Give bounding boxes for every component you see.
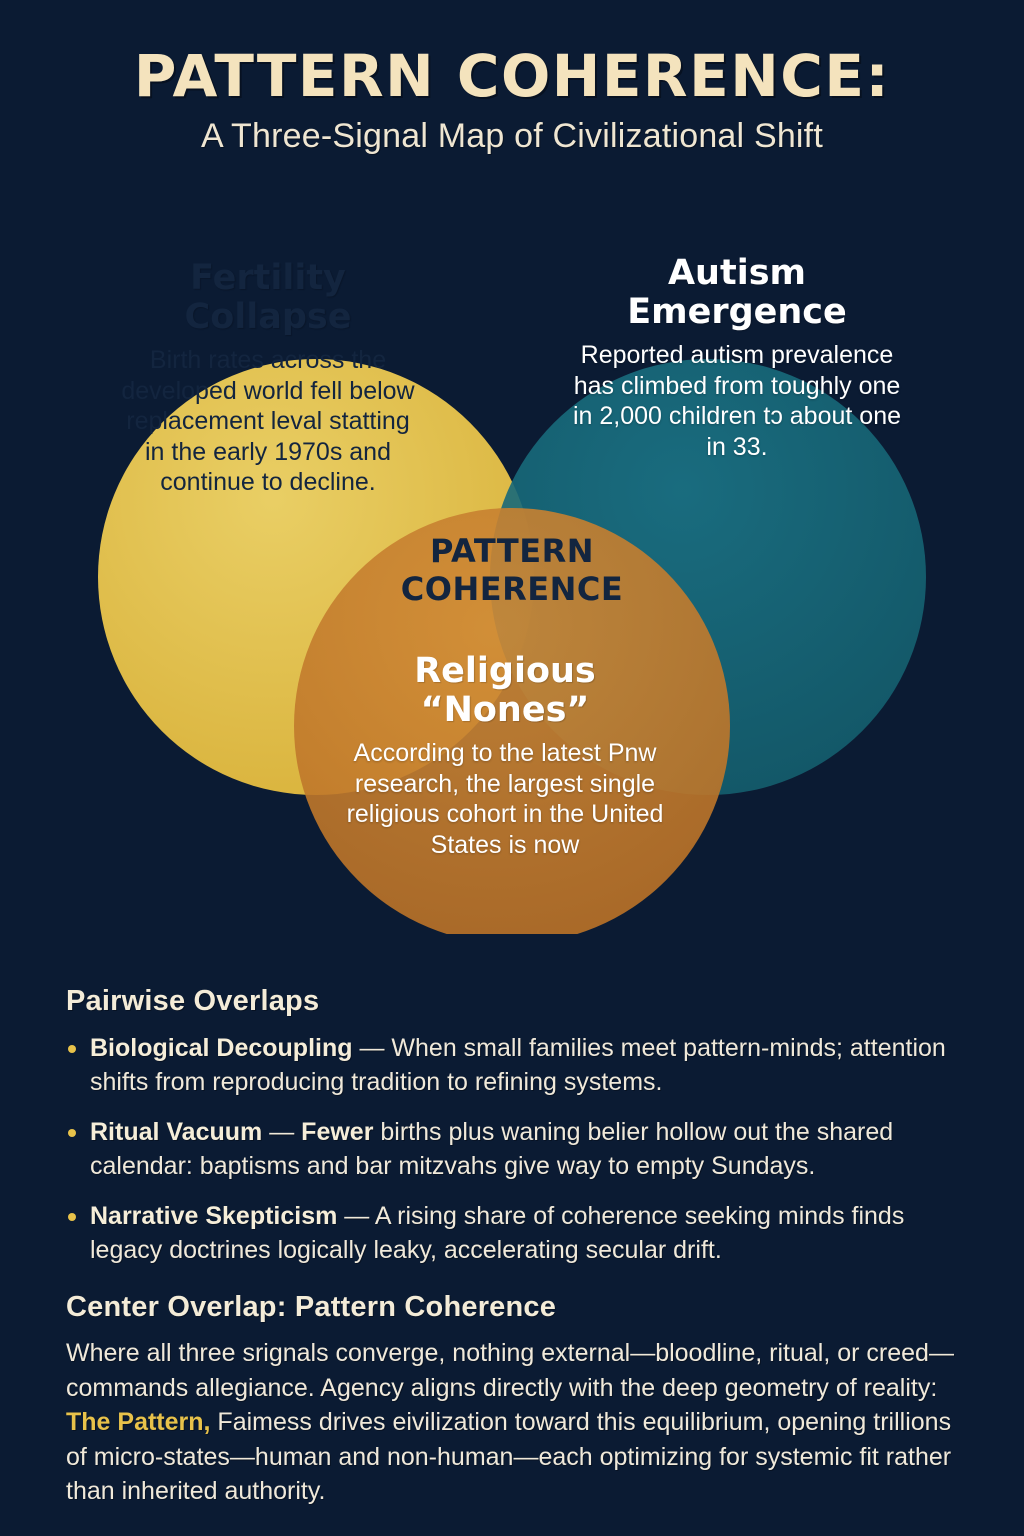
page-header: PATTERN COHERENCE: A Three-Signal Map of… xyxy=(0,0,1024,156)
bullet-dot-icon xyxy=(68,1129,76,1137)
bullet-dot-icon xyxy=(68,1213,76,1221)
overlap-term: Biological Decoupling xyxy=(90,1034,353,1062)
overlap-term: Narrative Skepticism xyxy=(90,1202,337,1230)
page-subtitle: A Three-Signal Map of Civilizational Shi… xyxy=(0,117,1024,156)
list-item: Narrative Skepticism — A rising share of… xyxy=(66,1200,972,1267)
venn-circle-religious xyxy=(294,508,730,934)
bullet-dot-icon xyxy=(68,1045,76,1053)
overlap-dash: — xyxy=(353,1034,392,1062)
overlap-term: Ritual Vacuum xyxy=(90,1118,262,1146)
list-item: Ritual Vacuum — Fewer births plus waning… xyxy=(66,1116,972,1183)
lower-content: Pairwise Overlaps Biological Decoupling … xyxy=(66,985,972,1509)
page-title: PATTERN COHERENCE: xyxy=(0,46,1024,107)
center-para-part1: Where all three srignals converge, nothi… xyxy=(66,1339,954,1402)
venn-diagram: Fertility Collapse Birth rates across th… xyxy=(0,164,1024,934)
pairwise-overlaps-list: Biological Decoupling — When small famil… xyxy=(66,1032,972,1267)
venn-shapes xyxy=(0,164,1024,934)
the-pattern-accent: The Pattern, xyxy=(66,1408,210,1436)
pairwise-heading: Pairwise Overlaps xyxy=(66,985,972,1018)
center-overlap-paragraph: Where all three srignals converge, nothi… xyxy=(66,1336,972,1509)
center-overlap-heading: Center Overlap: Pattern Coherence xyxy=(66,1291,972,1324)
overlap-dash: — xyxy=(262,1118,301,1146)
center-overlap-section: Center Overlap: Pattern Coherence Where … xyxy=(66,1291,972,1509)
overlap-bold-lead: Fewer xyxy=(301,1118,373,1146)
overlap-dash: — xyxy=(337,1202,375,1230)
list-item: Biological Decoupling — When small famil… xyxy=(66,1032,972,1099)
